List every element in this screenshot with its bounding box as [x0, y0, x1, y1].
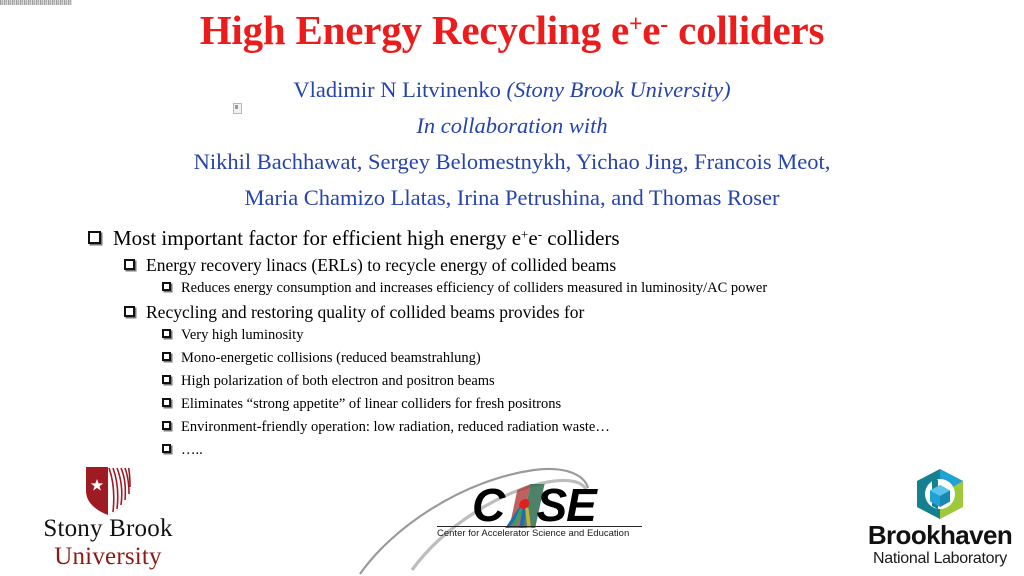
case-tagline: Center for Accelerator Science and Educa…	[437, 528, 629, 540]
stony-brook-subtitle: University	[8, 542, 208, 572]
square-bullet-icon	[162, 323, 171, 346]
bullet-item-4: Recycling and restoring quality of colli…	[0, 300, 1024, 324]
stony-brook-shield-icon	[8, 466, 208, 516]
collaborators-line-1: Nikhil Bachhawat, Sergey Belomestnykh, Y…	[0, 144, 1024, 180]
page-title: High Energy Recycling e+e- colliders	[0, 6, 1024, 54]
presenter-affiliation: (Stony Brook University)	[506, 77, 730, 102]
bullet-item-2-label: Energy recovery linacs (ERLs) to recycle…	[135, 253, 616, 277]
bullet-item-1-label: Most important factor for efficient high…	[101, 224, 620, 253]
bullet-item-6-label: Mono-energetic collisions (reduced beams…	[171, 347, 481, 370]
bullet-item-10: …..	[0, 439, 1024, 462]
presenter-line: Vladimir N Litvinenko (Stony Brook Unive…	[0, 72, 1024, 108]
square-bullet-icon	[162, 438, 171, 461]
case-logo: CASE Center for Accelerator Science and …	[352, 466, 652, 576]
bullet-1-text-part2: e	[528, 226, 537, 250]
collaboration-label: In collaboration with	[0, 108, 1024, 144]
square-bullet-icon	[162, 369, 171, 392]
bullet-item-10-label: …..	[171, 439, 203, 462]
bullet-item-9: Environment-friendly operation: low radi…	[0, 416, 1024, 439]
bullet-item-6: Mono-energetic collisions (reduced beams…	[0, 347, 1024, 370]
bullet-1-text-part3: colliders	[542, 226, 620, 250]
square-bullet-icon	[124, 252, 135, 276]
square-bullet-icon	[124, 299, 135, 323]
square-bullet-icon	[88, 223, 101, 252]
bullet-item-8-label: Eliminates “strong appetite” of linear c…	[171, 393, 561, 416]
square-bullet-icon	[162, 415, 171, 438]
brookhaven-name: Brookhaven	[860, 520, 1020, 550]
bullet-item-8: Eliminates “strong appetite” of linear c…	[0, 393, 1024, 416]
bullet-item-7-label: High polarization of both electron and p…	[171, 370, 495, 393]
bullet-item-9-label: Environment-friendly operation: low radi…	[171, 416, 610, 439]
title-text-part3: colliders	[668, 7, 824, 53]
bullet-item-2: Energy recovery linacs (ERLs) to recycle…	[0, 253, 1024, 277]
bullet-item-5-label: Very high luminosity	[171, 324, 303, 347]
bullet-item-5: Very high luminosity	[0, 324, 1024, 347]
brookhaven-national-laboratory-logo: Brookhaven National Laboratory	[860, 468, 1020, 574]
bullet-1-text-part1: Most important factor for efficient high…	[113, 226, 521, 250]
title-text-part2: e	[642, 7, 660, 53]
brookhaven-hexagon-b-icon	[860, 468, 1020, 520]
title-superscript-minus: -	[660, 12, 668, 38]
title-text-part1: High Energy Recycling e	[200, 7, 629, 53]
square-bullet-icon	[162, 392, 171, 415]
bullet-item-3: Reduces energy consumption and increases…	[0, 277, 1024, 300]
bullet-item-3-label: Reduces energy consumption and increases…	[171, 277, 767, 300]
case-acronym: CASE	[472, 482, 596, 528]
title-superscript-plus: +	[629, 12, 642, 38]
stony-brook-university-logo: Stony Brook University	[8, 466, 208, 570]
square-bullet-icon	[162, 276, 171, 299]
stony-brook-name: Stony Brook	[8, 514, 208, 544]
author-block: Vladimir N Litvinenko (Stony Brook Unive…	[0, 72, 1024, 216]
bullet-item-7: High polarization of both electron and p…	[0, 370, 1024, 393]
bullet-list: Most important factor for efficient high…	[0, 224, 1024, 462]
brookhaven-subtitle: National Laboratory	[860, 549, 1020, 569]
bullet-item-1: Most important factor for efficient high…	[0, 224, 1024, 253]
broken-image-placeholder-icon	[233, 103, 242, 114]
bullet-item-4-label: Recycling and restoring quality of colli…	[135, 300, 584, 324]
presenter-name: Vladimir N Litvinenko	[293, 77, 506, 102]
case-divider	[437, 526, 642, 527]
top-left-artifact-strip	[0, 0, 72, 5]
square-bullet-icon	[162, 346, 171, 369]
collaborators-line-2: Maria Chamizo Llatas, Irina Petrushina, …	[0, 180, 1024, 216]
